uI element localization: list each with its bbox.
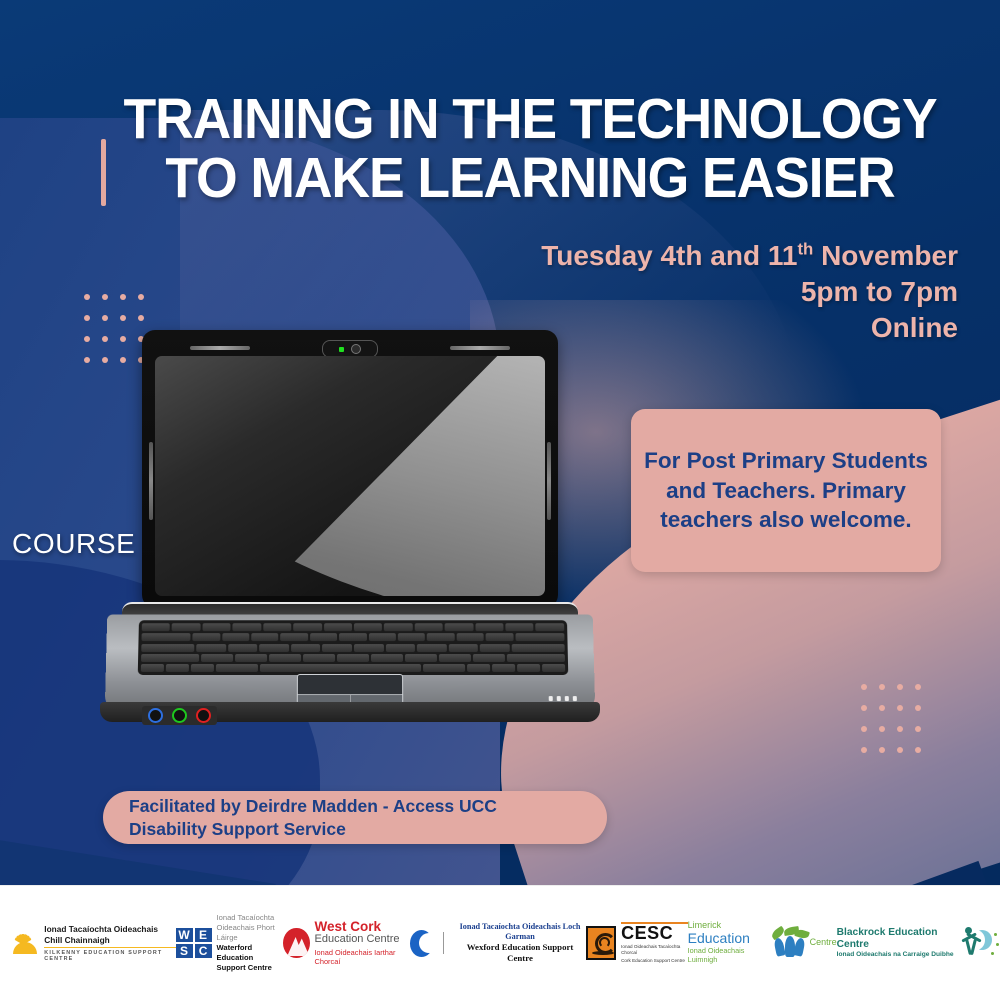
logo-waterford-irish-1: Ionad Tacaíochta xyxy=(217,913,284,923)
logo-kilkenny-rule xyxy=(44,947,175,949)
wesc-letter-s: S xyxy=(176,944,193,958)
logo-blackrock-english: Blackrock Education Centre xyxy=(837,927,956,950)
keyboard-row xyxy=(142,623,565,631)
logo-cesc-sub-1: Ionad Oideachais Tacaíochta Chorcaí xyxy=(621,944,688,956)
logo-waterford-english-2: Support Centre xyxy=(217,963,284,973)
logo-kilkenny-irish-1: Ionad Tacaíochta Oideachais xyxy=(44,924,175,934)
audience-card: For Post Primary Students and Teachers. … xyxy=(631,409,941,572)
event-time: 5pm to 7pm xyxy=(438,274,958,310)
partner-logo-strip: Ionad Tacaíochta Oideachais Chill Chainn… xyxy=(0,885,1000,1000)
wesc-letter-e: E xyxy=(195,928,212,942)
logo-west-cork-name-2: Education Centre xyxy=(315,933,410,946)
logo-wexford: Ionad Tacaíochta Oideachais Loch Garman … xyxy=(410,922,586,964)
facilitator-line-2: Disability Support Service xyxy=(129,819,346,839)
laptop-lid xyxy=(142,330,558,608)
logo-waterford-english-1: Waterford Education xyxy=(217,943,284,963)
keyboard xyxy=(138,620,569,675)
logo-blackrock: Blackrock Education Centre Ionad Oideach… xyxy=(837,927,994,959)
logo-waterford: W E S C Ionad Tacaíochta Oideachais Phor… xyxy=(176,913,284,972)
sun-icon xyxy=(6,930,39,956)
lid-vent-left xyxy=(149,442,153,520)
logo-west-cork-irish: Ionad Oideachais Iarthar Chorcaí xyxy=(315,948,410,966)
lid-accent-right xyxy=(450,346,510,350)
laptop-illustration xyxy=(100,330,600,760)
headline-line-1: TRAINING IN THE TECHNOLOGY xyxy=(123,87,936,151)
wesc-letter-w: W xyxy=(176,928,193,942)
logo-kilkenny-english: KILKENNY EDUCATION SUPPORT CENTRE xyxy=(44,950,175,962)
logo-kilkenny: Ionad Tacaíochta Oideachais Chill Chainn… xyxy=(6,924,176,961)
keyboard-row xyxy=(141,654,565,662)
logo-cesc-name: CESC xyxy=(621,924,688,942)
ordinal-suffix: th xyxy=(797,240,813,259)
orange-spiral-icon xyxy=(586,926,616,960)
lid-vent-right xyxy=(547,442,551,520)
logo-limerick: Limerick Education Ionad Oideachais Luim… xyxy=(688,921,837,964)
facilitator-line-1: Facilitated by Deirdre Madden - Access U… xyxy=(129,796,497,816)
screen-glare xyxy=(155,356,545,596)
keyboard-row xyxy=(141,644,564,652)
logo-west-cork: West Cork Education Centre Ionad Oideach… xyxy=(283,920,410,966)
status-indicator-leds xyxy=(549,696,577,701)
logo-wexford-divider xyxy=(443,932,444,954)
laptop-deck xyxy=(105,614,596,712)
trackpad xyxy=(297,674,403,704)
logo-waterford-irish-2: Oideachais Phort Láirge xyxy=(217,923,284,943)
figures-icon xyxy=(767,927,804,959)
red-circle-icon xyxy=(283,928,309,958)
blue-crescent-icon xyxy=(410,930,433,957)
port-green-icon xyxy=(172,708,187,723)
logo-cesc-sub-2: Cork Education Support Centre xyxy=(621,958,688,964)
wesc-letter-c: C xyxy=(195,944,212,958)
facilitator-text: Facilitated by Deirdre Madden - Access U… xyxy=(129,795,497,840)
poster-canvas: TRAINING IN THE TECHNOLOGY TO MAKE LEARN… xyxy=(0,0,1000,1000)
keyboard-row xyxy=(141,664,565,672)
logo-blackrock-irish: Ionad Oideachais na Carraige Duibhe xyxy=(837,951,956,959)
port-red-icon xyxy=(196,708,211,723)
logo-limerick-irish: Ionad Oideachais Luimnigh xyxy=(688,947,763,965)
laptop-front-edge xyxy=(100,702,600,722)
logo-cesc: CESC Ionad Oideachais Tacaíochta Chorcaí… xyxy=(586,922,688,965)
webcam-led-icon xyxy=(339,347,344,352)
audio-ports xyxy=(142,706,217,725)
event-date-prefix: Tuesday 4th and 11 xyxy=(541,240,797,271)
port-blue-icon xyxy=(148,708,163,723)
logo-wexford-irish: Ionad Tacaíochta Oideachais Loch Garman xyxy=(454,922,586,943)
event-date: Tuesday 4th and 11th November xyxy=(438,238,958,274)
logo-wexford-english: Wexford Education Support Centre xyxy=(454,942,586,964)
lid-accent-left xyxy=(190,346,250,350)
event-date-suffix: November xyxy=(821,240,958,271)
webcam-lens-icon xyxy=(351,344,361,354)
keyboard-row xyxy=(141,633,564,641)
page-title: TRAINING IN THE TECHNOLOGY TO MAKE LEARN… xyxy=(88,90,972,209)
dot-grid-right xyxy=(855,676,927,760)
audience-text: For Post Primary Students and Teachers. … xyxy=(631,446,941,536)
facilitator-banner: Facilitated by Deirdre Madden - Access U… xyxy=(103,791,607,844)
figure-moon-icon xyxy=(961,927,994,959)
wesc-blocks-icon: W E S C xyxy=(176,928,212,958)
headline-line-2: TO MAKE LEARNING EASIER xyxy=(88,149,972,208)
logo-limerick-word-3: Centre xyxy=(810,938,837,948)
logo-limerick-word-2: Education xyxy=(688,931,763,946)
laptop-screen xyxy=(155,356,545,596)
logo-west-cork-name-1: West Cork xyxy=(315,920,410,934)
logo-kilkenny-irish-2: Chill Chainnaigh xyxy=(44,935,175,945)
laptop-base xyxy=(100,602,600,720)
